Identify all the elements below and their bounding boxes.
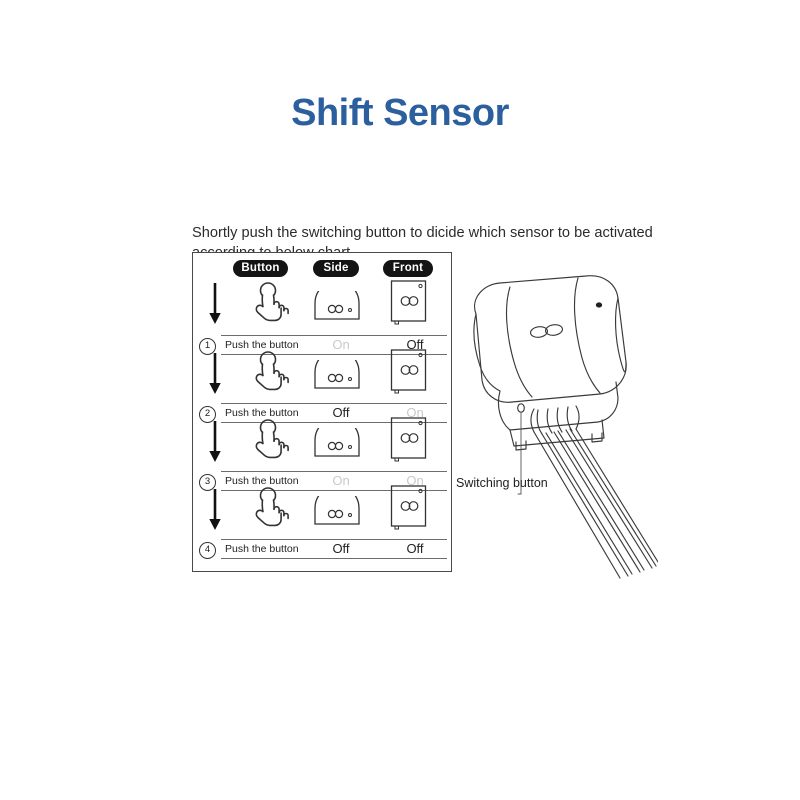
row-side-state: On [311, 473, 371, 488]
shift-sensor-figure: Button Side Front [188, 250, 658, 580]
step-number: 4 [199, 542, 216, 559]
down-arrow-icon [208, 283, 222, 325]
column-header-side: Side [313, 260, 359, 277]
row-front-state: Off [385, 541, 445, 556]
sensor-side-view-icon [313, 291, 361, 321]
page-title: Shift Sensor [0, 92, 800, 135]
down-arrow-icon [208, 421, 222, 463]
row-rule-bottom [221, 558, 447, 559]
pressing-hand-icon [248, 281, 292, 327]
sensor-front-view-icon [389, 416, 429, 464]
pressing-hand-icon [248, 350, 292, 396]
pressing-hand-icon [248, 486, 292, 532]
table-row: 4 Push the button Off Off [199, 539, 447, 559]
switching-button-callout-label: Switching button [456, 476, 548, 490]
row-side-state: Off [311, 541, 371, 556]
sensor-side-view-icon [313, 496, 361, 526]
sensor-front-view-icon [389, 279, 429, 327]
pressing-hand-icon [248, 418, 292, 464]
sensor-front-view-icon [389, 484, 429, 532]
sensor-side-view-icon [313, 360, 361, 390]
sensor-device-icon [456, 270, 658, 580]
row-action-label: Push the button [225, 543, 299, 555]
row-rule-top [221, 539, 447, 540]
switching-chart: Button Side Front [192, 252, 452, 572]
row-side-state: Off [311, 405, 371, 420]
row-side-state: On [311, 337, 371, 352]
sensor-side-view-icon [313, 428, 361, 458]
column-header-button: Button [233, 260, 288, 277]
column-header-front: Front [383, 260, 433, 277]
down-arrow-icon [208, 353, 222, 395]
row-rule-top [221, 403, 447, 404]
row-rule-top [221, 471, 447, 472]
row-rule-top [221, 335, 447, 336]
down-arrow-icon [208, 489, 222, 531]
sensor-front-view-icon [389, 348, 429, 396]
